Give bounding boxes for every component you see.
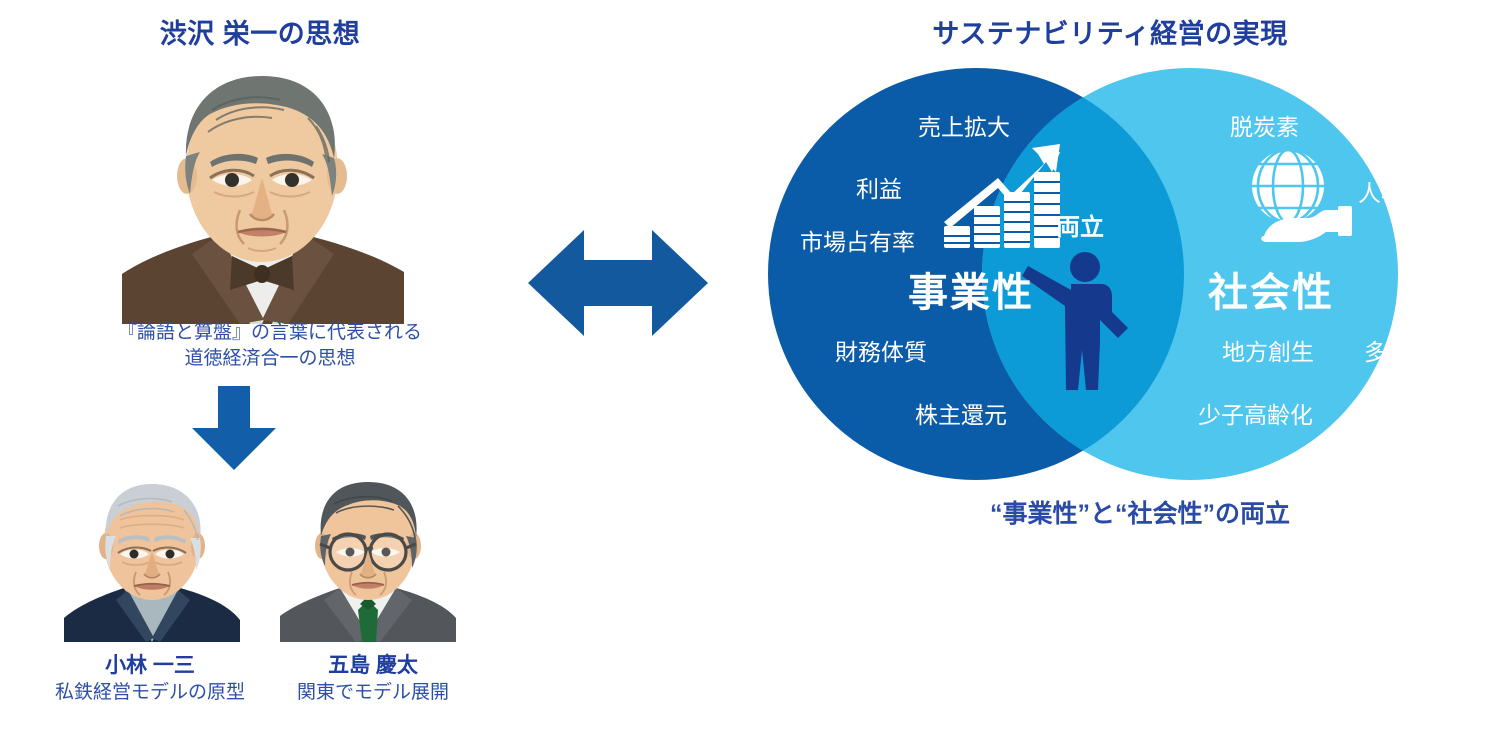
portrait-kobayashi-ichizo [62,478,242,642]
follower-caption-goto: 五島 慶太 関東でモデル展開 [248,652,498,706]
right-panel-title: サステナビリティ経営の実現 [830,12,1390,51]
follower-caption-kobayashi: 小林 一三 私鉄経営モデルの原型 [25,652,275,706]
shibusawa-caption: 『論語と算盤』の言葉に代表される 道徳経済合一の思想 [40,320,500,371]
left-panel-title: 渋沢 栄一の思想 [0,12,520,51]
portrait-shibusawa-eiichi [112,58,412,324]
shibusawa-caption-line1: 『論語と算盤』の言葉に代表される [118,322,422,343]
follower-name-goto: 五島 慶太 [248,652,498,680]
double-arrow-left-right-icon [528,228,708,338]
follower-name-kobayashi: 小林 一三 [25,652,275,680]
follower-subtitle-goto: 関東でモデル展開 [248,680,498,706]
slide-canvas: 渋沢 栄一の思想 [0,0,1500,729]
venn-caption: “事業性”と“社会性”の両立 [860,494,1420,530]
portrait-goto-keita [278,478,458,642]
follower-subtitle-kobayashi: 私鉄経営モデルの原型 [25,680,275,706]
venn-diagram: 売上拡大 利益 市場占有率 事業性 財務体質 株主還元 両立 脱炭素 人権 社会… [760,60,1500,500]
arrow-down-icon [186,386,282,470]
shibusawa-caption-line2: 道徳経済合一の思想 [184,348,355,369]
